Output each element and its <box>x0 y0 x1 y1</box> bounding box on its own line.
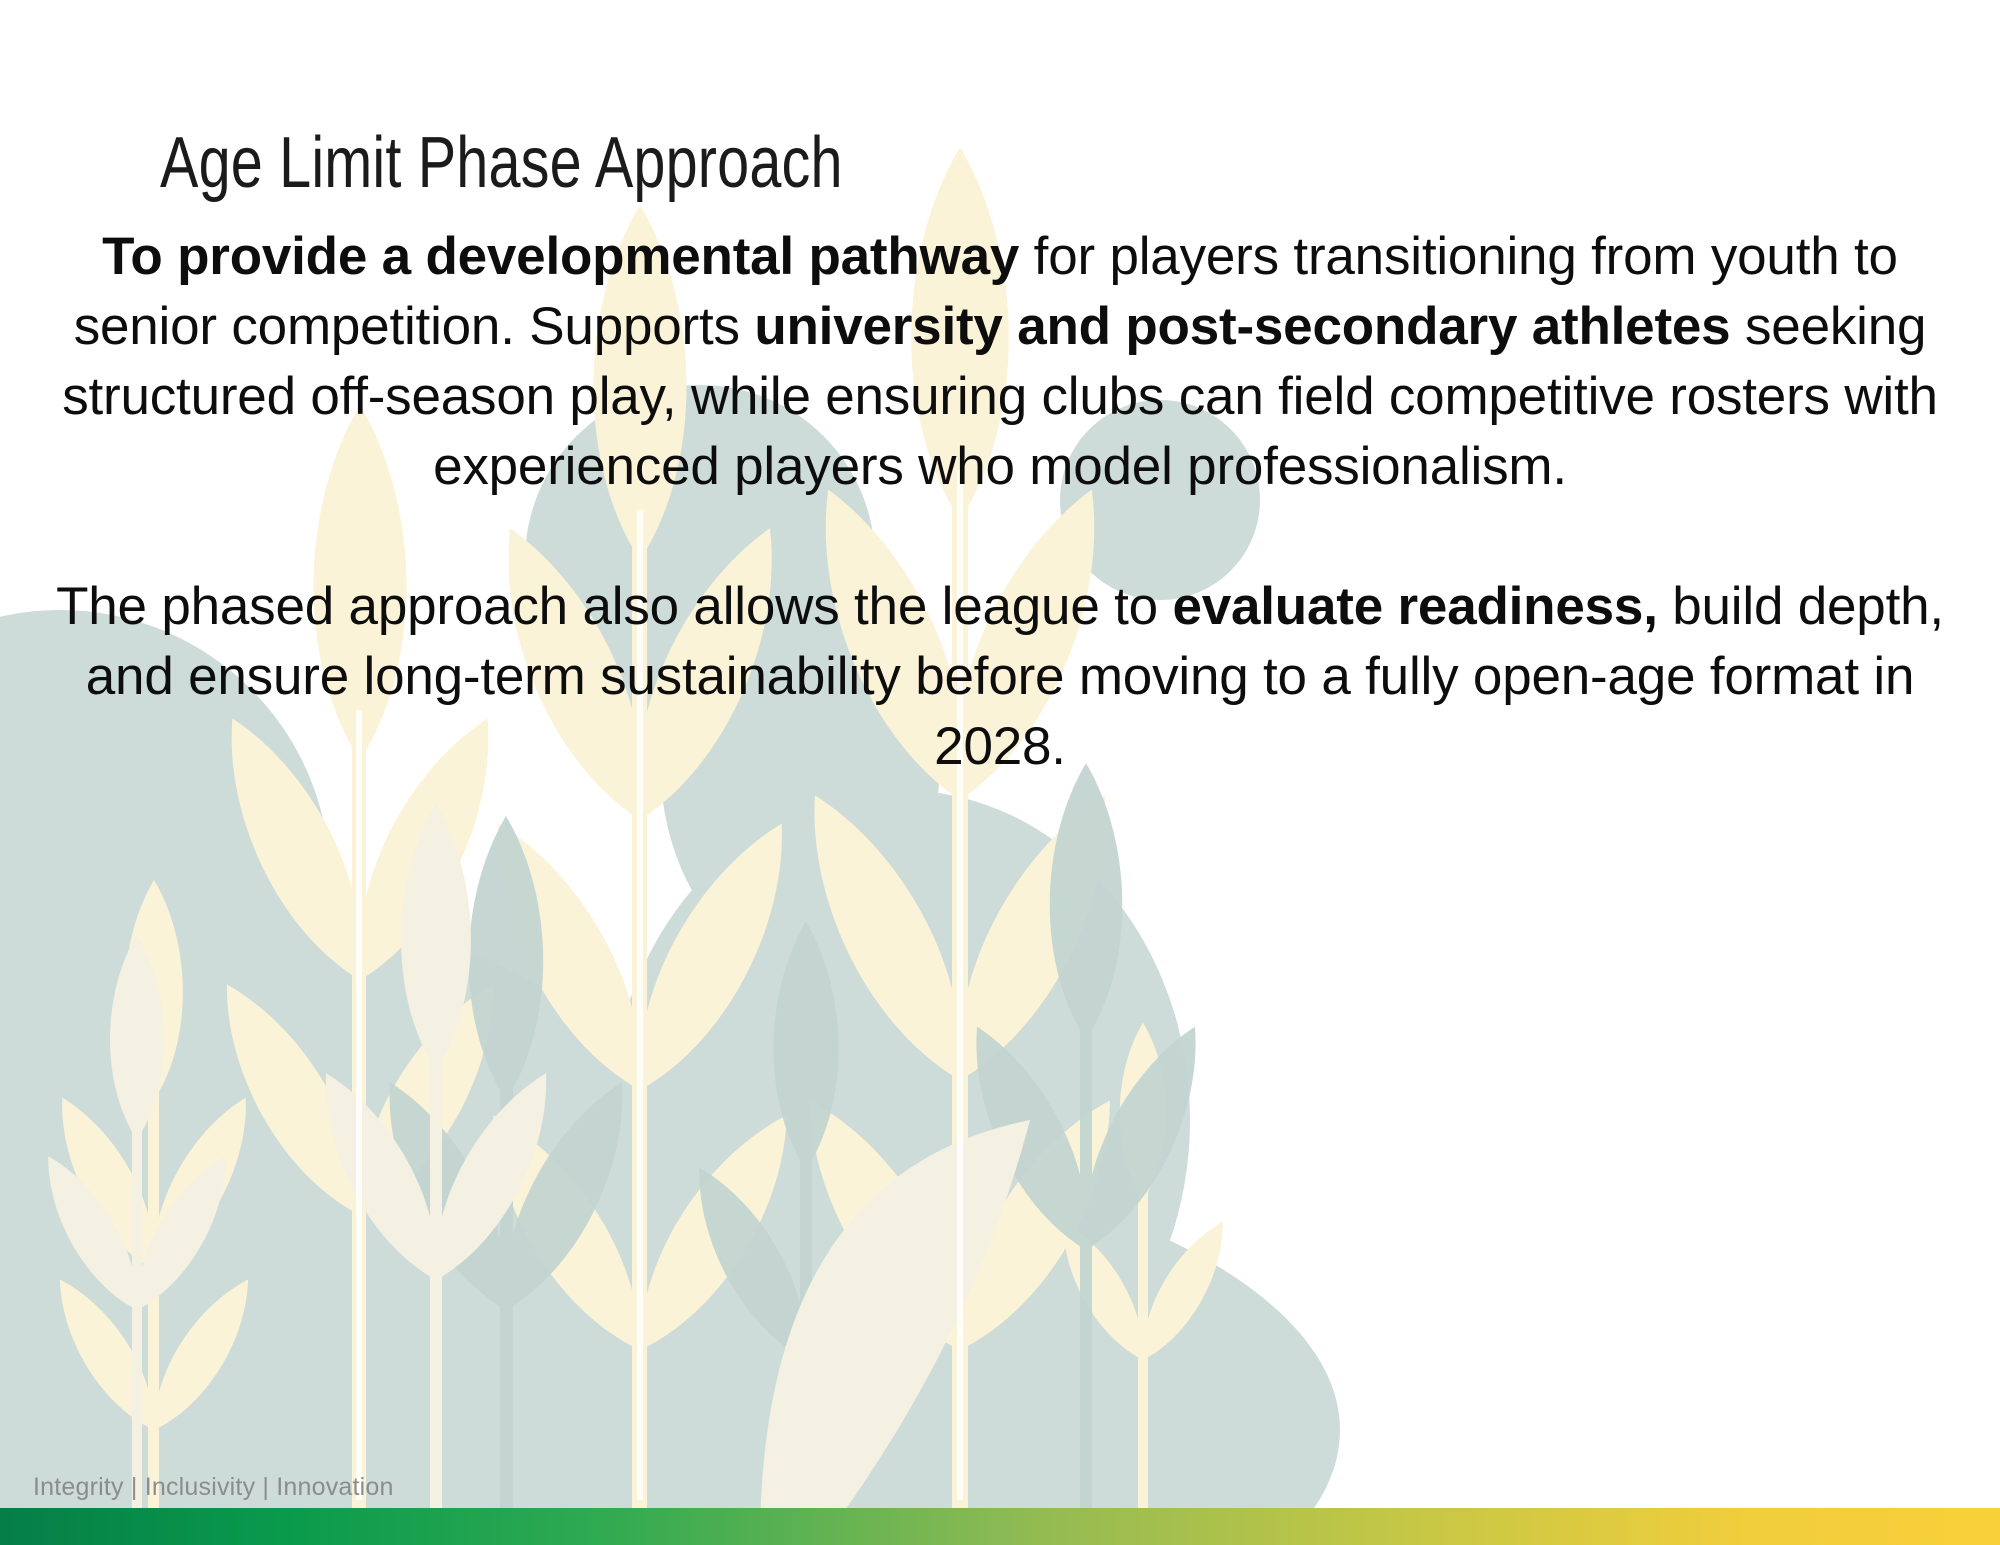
presentation-slide: Age Limit Phase Approach To provide a de… <box>0 0 2000 1545</box>
slide-body-text: To provide a developmental pathway for p… <box>50 222 1950 782</box>
body-paragraph-1: To provide a developmental pathway for p… <box>50 222 1950 502</box>
body-p1-bold-run-3: university and post-secondary athletes <box>754 297 1730 356</box>
page-title: Age Limit Phase Approach <box>160 126 843 202</box>
body-p1-bold-run-1: To provide a developmental pathway <box>102 227 1019 286</box>
body-p2-bold-run-2: evaluate readiness, <box>1172 577 1657 636</box>
slide-content: Age Limit Phase Approach To provide a de… <box>0 0 2000 1545</box>
bottom-gradient-bar <box>0 1508 2000 1545</box>
footer-tagline: Integrity | Inclusivity | Innovation <box>33 1473 394 1502</box>
body-p2-run-1: The phased approach also allows the leag… <box>56 577 1172 636</box>
body-paragraph-2: The phased approach also allows the leag… <box>50 572 1950 782</box>
